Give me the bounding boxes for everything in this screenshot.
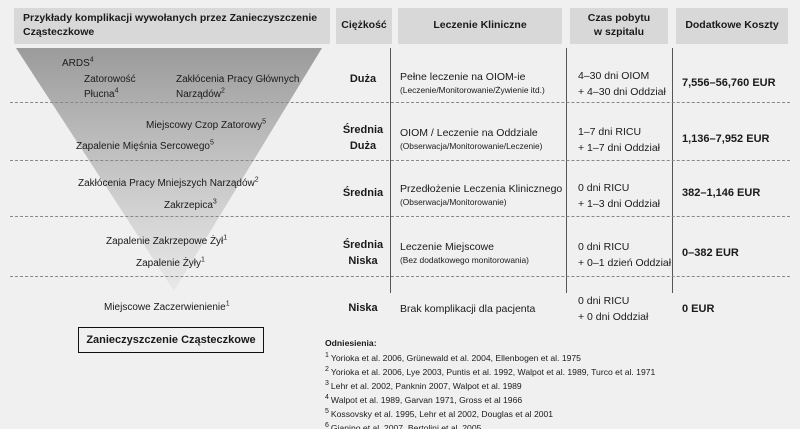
reference-item: 5Kossovsky et al. 1995, Lehr et al 2002,… xyxy=(325,407,795,421)
complication-label: Zapalenie Żyły1 xyxy=(136,258,205,269)
complication-label: Narządów2 xyxy=(176,89,225,100)
header-hospital-stay-line2: w szpitalu xyxy=(588,26,650,40)
header-complications-label: Przykłady komplikacji wywołanych przez Z… xyxy=(23,12,321,40)
row-separator-1 xyxy=(10,102,790,103)
header-severity: Ciężkość xyxy=(336,8,392,44)
complication-label: Miejscowy Czop Zatorowy5 xyxy=(146,120,266,131)
severity-value: Średnia xyxy=(336,186,390,202)
complication-label: ARDS4 xyxy=(62,58,94,69)
header-additional-costs-label: Dodatkowe Koszty xyxy=(685,19,778,33)
treatment-value: Przedłożenie Leczenia Klinicznego (Obser… xyxy=(400,182,564,208)
row-separator-3 xyxy=(10,216,790,217)
severity-value: Duża xyxy=(336,72,390,88)
infographic-page: Przykłady komplikacji wywołanych przez Z… xyxy=(0,0,800,429)
complication-label: Zakłócenia Pracy Mniejszych Narządów2 xyxy=(78,178,259,189)
treatment-value: Leczenie Miejscowe (Bez dodatkowego moni… xyxy=(400,240,564,266)
complication-label: Zapalenie Zakrzepowe Żył1 xyxy=(106,236,227,247)
complication-label: Zapalenie Mięśnia Sercowego5 xyxy=(76,141,214,152)
stay-value: 0 dni RICU + 0–1 dzień Oddział xyxy=(578,240,672,272)
column-divider-treatment xyxy=(390,48,391,293)
particulate-matter-label-box: Zanieczyszczenie Cząsteczkowe xyxy=(78,327,264,353)
complication-label: Zakrzepica3 xyxy=(164,200,217,211)
complication-label: Płucna4 xyxy=(84,89,118,100)
complication-label: Miejscowe Zaczerwienienie1 xyxy=(104,302,230,313)
references-title: Odniesienia: xyxy=(325,336,795,350)
cost-value: 382–1,146 EUR xyxy=(682,186,794,201)
complication-label: Zatorowość xyxy=(84,74,136,85)
stay-value: 0 dni RICU + 0 dni Oddział xyxy=(578,294,672,326)
treatment-value: Brak komplikacji dla pacjenta xyxy=(400,302,564,317)
stay-value: 4–30 dni OIOM + 4–30 dni Oddział xyxy=(578,69,672,101)
severity-value: Niska xyxy=(336,301,390,317)
treatment-value: OIOM / Leczenie na Oddziale (Obserwacja/… xyxy=(400,126,564,152)
header-additional-costs: Dodatkowe Koszty xyxy=(676,8,788,44)
cost-value: 0 EUR xyxy=(682,302,794,317)
header-severity-label: Ciężkość xyxy=(341,19,387,33)
reference-item: 2Yorioka et al. 2006, Lye 2003, Puntis e… xyxy=(325,365,795,379)
particulate-matter-label: Zanieczyszczenie Cząsteczkowe xyxy=(86,334,255,346)
reference-item: 4Walpot et al. 1989, Garvan 1971, Gross … xyxy=(325,393,795,407)
severity-value: Średnia Duża xyxy=(336,123,390,155)
reference-item: 6Gianino et al. 2007, Bertolini et al. 2… xyxy=(325,421,795,429)
reference-item: 3Lehr et al. 2002, Panknin 2007, Walpot … xyxy=(325,379,795,393)
complication-label: Zakłócenia Pracy Głównych xyxy=(176,74,299,85)
severity-value: Średnia Niska xyxy=(336,238,390,270)
treatment-value: Pełne leczenie na OIOM-ie (Leczenie/Moni… xyxy=(400,70,564,96)
header-clinical-treatment-label: Leczenie Kliniczne xyxy=(433,19,526,33)
stay-value: 1–7 dni RICU + 1–7 dni Oddział xyxy=(578,125,672,157)
stay-value: 0 dni RICU + 1–3 dni Oddział xyxy=(578,181,672,213)
row-separator-2 xyxy=(10,160,790,161)
header-hospital-stay-line1: Czas pobytu xyxy=(588,12,650,26)
column-divider-costs xyxy=(672,48,673,293)
column-divider-stay xyxy=(566,48,567,293)
header-clinical-treatment: Leczenie Kliniczne xyxy=(398,8,562,44)
cost-value: 1,136–7,952 EUR xyxy=(682,132,794,147)
row-separator-4 xyxy=(10,276,790,277)
cost-value: 0–382 EUR xyxy=(682,246,794,261)
header-hospital-stay: Czas pobytu w szpitalu xyxy=(570,8,668,44)
references-block: Odniesienia: 1Yorioka et al. 2006, Grüne… xyxy=(325,336,795,429)
reference-item: 1Yorioka et al. 2006, Grünewald et al. 2… xyxy=(325,351,795,365)
header-complications: Przykłady komplikacji wywołanych przez Z… xyxy=(14,8,330,44)
cost-value: 7,556–56,760 EUR xyxy=(682,76,794,91)
